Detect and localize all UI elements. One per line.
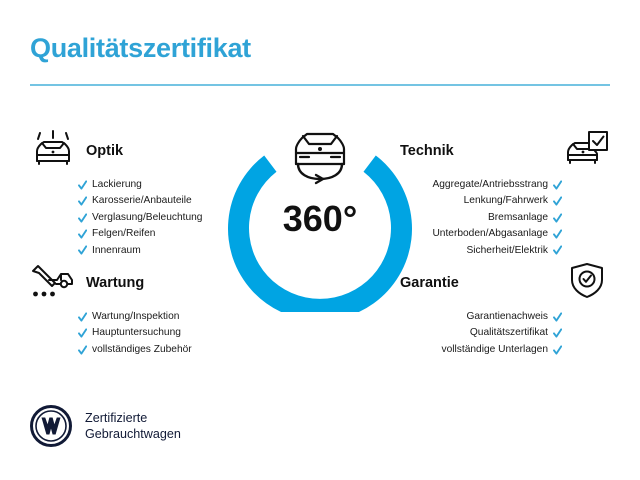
- badge-center-label: 360°: [283, 198, 357, 239]
- list-item: Lenkung/Fahrwerk: [464, 193, 562, 209]
- list-item: vollständige Unterlagen: [442, 342, 562, 358]
- section-header: Garantie: [400, 262, 610, 300]
- page-title: Qualitätszertifikat: [30, 33, 251, 64]
- section-header: Technik: [400, 130, 610, 168]
- checklist-optik: Lackierung Karosserie/Anbauteile Verglas…: [30, 177, 240, 259]
- footer-line-2: Gebrauchtwagen: [85, 426, 181, 442]
- list-item-label: vollständiges Zubehör: [92, 342, 192, 358]
- list-item: Garantienachweis: [466, 309, 562, 325]
- volkswagen-logo: [30, 405, 72, 447]
- list-item-label: Verglasung/Beleuchtung: [92, 210, 202, 226]
- checklist-garantie: Garantienachweis Qualitätszertifikat vol…: [400, 309, 610, 358]
- section-technik: Technik Aggregate/Antriebsstrang Lenkung…: [400, 130, 610, 259]
- section-optik: Optik Lackierung Karosserie/Anbauteile V…: [30, 130, 240, 259]
- wrench-car-icon: [30, 262, 76, 300]
- list-item-label: Wartung/Inspektion: [92, 309, 179, 325]
- footer-text: Zertifizierte Gebrauchtwagen: [85, 410, 181, 442]
- list-item: vollständiges Zubehör: [78, 342, 240, 358]
- check-icon: [553, 328, 562, 339]
- footer-brand: Zertifizierte Gebrauchtwagen: [30, 405, 181, 447]
- check-icon: [78, 312, 87, 323]
- check-icon: [78, 245, 87, 256]
- car-front-rotation-icon: [276, 124, 364, 186]
- list-item: Qualitätszertifikat: [470, 325, 562, 341]
- checklist-wartung: Wartung/Inspektion Hauptuntersuchung vol…: [30, 309, 240, 358]
- check-icon: [553, 312, 562, 323]
- list-item-label: Aggregate/Antriebsstrang: [432, 177, 548, 193]
- check-icon: [553, 213, 562, 224]
- check-icon: [553, 196, 562, 207]
- list-item-label: Unterboden/Abgasanlage: [432, 226, 548, 242]
- shield-check-icon: [564, 262, 610, 300]
- checklist-technik: Aggregate/Antriebsstrang Lenkung/Fahrwer…: [400, 177, 610, 259]
- section-header: Wartung: [30, 262, 240, 300]
- list-item-label: Lenkung/Fahrwerk: [464, 193, 548, 209]
- list-item-label: Felgen/Reifen: [92, 226, 155, 242]
- car-checkbox-icon: [564, 130, 610, 168]
- list-item: Hauptuntersuchung: [78, 325, 240, 341]
- check-icon: [553, 345, 562, 356]
- section-title-wrap: Wartung: [86, 262, 240, 292]
- list-item-label: vollständige Unterlagen: [442, 342, 548, 358]
- list-item: Sicherheit/Elektrik: [466, 243, 562, 259]
- check-icon: [553, 180, 562, 191]
- list-item: Aggregate/Antriebsstrang: [432, 177, 562, 193]
- list-item-label: Bremsanlage: [488, 210, 548, 226]
- check-icon: [78, 196, 87, 207]
- list-item: Unterboden/Abgasanlage: [432, 226, 562, 242]
- title-divider: [30, 84, 610, 86]
- section-title: Wartung: [86, 275, 144, 291]
- list-item: Felgen/Reifen: [78, 226, 240, 242]
- check-icon: [78, 328, 87, 339]
- check-icon: [553, 245, 562, 256]
- section-title-wrap: Optik: [86, 130, 240, 160]
- check-icon: [78, 229, 87, 240]
- list-item: Karosserie/Anbauteile: [78, 193, 240, 209]
- list-item: Verglasung/Beleuchtung: [78, 210, 240, 226]
- section-wartung: Wartung Wartung/Inspektion Hauptuntersuc…: [30, 262, 240, 358]
- check-icon: [78, 345, 87, 356]
- list-item: Bremsanlage: [488, 210, 562, 226]
- check-icon: [78, 180, 87, 191]
- list-item-label: Lackierung: [92, 177, 142, 193]
- section-header: Optik: [30, 130, 240, 168]
- list-item-label: Innenraum: [92, 243, 141, 259]
- section-title: Optik: [86, 143, 123, 159]
- check-icon: [553, 229, 562, 240]
- list-item: Lackierung: [78, 177, 240, 193]
- list-item: Wartung/Inspektion: [78, 309, 240, 325]
- list-item: Innenraum: [78, 243, 240, 259]
- check-icon: [78, 213, 87, 224]
- list-item-label: Sicherheit/Elektrik: [466, 243, 548, 259]
- section-title-wrap: Technik: [400, 130, 554, 160]
- list-item-label: Karosserie/Anbauteile: [92, 193, 192, 209]
- footer-line-1: Zertifizierte: [85, 410, 181, 426]
- list-item-label: Garantienachweis: [466, 309, 548, 325]
- car-shine-icon: [30, 130, 76, 168]
- list-item-label: Hauptuntersuchung: [92, 325, 181, 341]
- section-title-wrap: Garantie: [400, 262, 554, 292]
- list-item-label: Qualitätszertifikat: [470, 325, 548, 341]
- section-garantie: Garantie Garantienachweis Qualitätszerti…: [400, 262, 610, 358]
